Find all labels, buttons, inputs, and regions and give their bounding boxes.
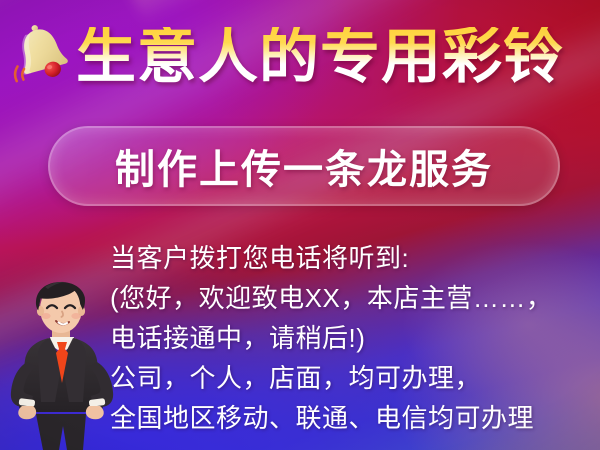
promo-poster: 生意人的专用彩铃 制作上传一条龙服务 当客户拨打您电话将听到: (您好，欢迎致电…: [0, 0, 600, 450]
vignette-overlay: [0, 0, 600, 450]
